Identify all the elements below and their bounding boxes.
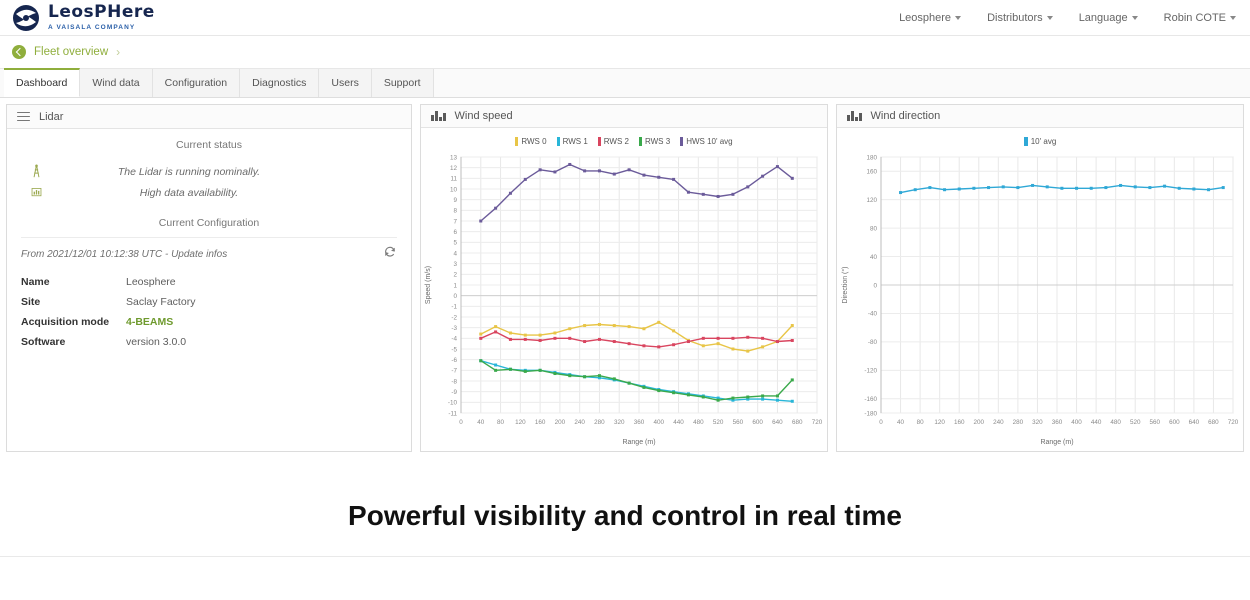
svg-text:680: 680 <box>792 419 803 426</box>
svg-text:160: 160 <box>535 419 546 426</box>
current-configuration-heading: Current Configuration <box>21 217 397 229</box>
svg-text:440: 440 <box>673 419 684 426</box>
svg-text:1: 1 <box>453 282 457 289</box>
config-value: 4-BEAMS <box>126 316 173 328</box>
svg-text:-8: -8 <box>451 378 457 385</box>
svg-text:2: 2 <box>453 272 457 279</box>
wind-speed-chart[interactable]: 0408012016020024028032036040044048052056… <box>421 151 827 451</box>
svg-text:200: 200 <box>974 419 985 426</box>
svg-text:600: 600 <box>1169 419 1180 426</box>
svg-text:-9: -9 <box>451 389 457 396</box>
brand-tagline: A VAISALA COMPANY <box>48 23 155 32</box>
topnav-label: Language <box>1079 12 1128 24</box>
legend-swatch <box>557 137 560 146</box>
status-list: The Lidar is running nominally. High dat… <box>21 161 397 203</box>
legend-item-hws-avg[interactable]: HWS 10' avg <box>680 137 732 146</box>
breadcrumb: Fleet overview › <box>0 36 1250 69</box>
legend-item-10-avg[interactable]: 10' avg <box>1024 137 1057 146</box>
brand-name: LeosPHere <box>48 4 155 21</box>
svg-text:-4: -4 <box>451 336 457 343</box>
svg-text:360: 360 <box>634 419 645 426</box>
svg-text:Speed (m/s): Speed (m/s) <box>425 266 432 304</box>
legend-swatch <box>1024 137 1028 146</box>
hamburger-icon[interactable] <box>17 112 30 122</box>
legend-swatch <box>515 137 518 146</box>
svg-text:5: 5 <box>453 240 457 247</box>
svg-text:80: 80 <box>917 419 925 426</box>
config-key: Acquisition mode <box>21 316 126 328</box>
tab-diagnostics[interactable]: Diagnostics <box>240 69 319 97</box>
svg-text:120: 120 <box>866 197 877 204</box>
chevron-down-icon <box>1230 16 1236 20</box>
svg-text:120: 120 <box>934 419 945 426</box>
svg-text:-40: -40 <box>868 311 878 318</box>
bar-chart-icon <box>847 110 862 121</box>
svg-text:720: 720 <box>1228 419 1239 426</box>
legend-label: HWS 10' avg <box>686 137 732 146</box>
svg-text:560: 560 <box>733 419 744 426</box>
svg-text:240: 240 <box>574 419 585 426</box>
topnav-item-user[interactable]: Robin COTE <box>1164 12 1236 24</box>
svg-text:640: 640 <box>1189 419 1200 426</box>
svg-text:-11: -11 <box>448 410 457 417</box>
svg-text:280: 280 <box>594 419 605 426</box>
svg-text:280: 280 <box>1013 419 1024 426</box>
config-table: Name Leosphere Site Saclay Factory Acqui… <box>21 272 397 352</box>
current-status-heading: Current status <box>21 139 397 151</box>
leosphere-logo-icon <box>12 4 40 32</box>
svg-text:0: 0 <box>459 419 463 426</box>
lidar-panel-header: Lidar <box>7 105 411 129</box>
status-text: The Lidar is running nominally. <box>51 166 397 178</box>
svg-text:-5: -5 <box>451 346 457 353</box>
svg-text:200: 200 <box>555 419 566 426</box>
config-date-text[interactable]: From 2021/12/01 10:12:38 UTC - Update in… <box>21 249 227 260</box>
back-circle-icon[interactable] <box>12 45 26 59</box>
tab-label: Configuration <box>165 77 227 89</box>
tab-label: Support <box>384 77 421 89</box>
brand-logo[interactable]: LeosPHere A VAISALA COMPANY <box>12 4 155 32</box>
legend-item-rws2[interactable]: RWS 2 <box>598 137 629 146</box>
svg-text:320: 320 <box>1032 419 1043 426</box>
config-value: Leosphere <box>126 276 176 288</box>
legend-item-rws3[interactable]: RWS 3 <box>639 137 670 146</box>
wind-direction-panel-title: Wind direction <box>871 110 941 122</box>
svg-text:-6: -6 <box>451 357 457 364</box>
svg-text:-160: -160 <box>864 396 877 403</box>
page-caption: Powerful visibility and control in real … <box>0 500 1250 532</box>
lidar-panel: Lidar Current status The Lidar is runnin… <box>6 104 412 452</box>
tab-dashboard[interactable]: Dashboard <box>4 68 80 97</box>
svg-text:0: 0 <box>453 293 457 300</box>
svg-text:9: 9 <box>453 197 457 204</box>
legend-label: 10' avg <box>1031 137 1057 146</box>
status-text: High data availability. <box>51 187 397 199</box>
legend-item-rws0[interactable]: RWS 0 <box>515 137 546 146</box>
tab-label: Dashboard <box>16 77 67 89</box>
svg-text:80: 80 <box>870 225 878 232</box>
config-row: Acquisition mode 4-BEAMS <box>21 312 397 332</box>
svg-text:160: 160 <box>866 169 877 176</box>
svg-text:-3: -3 <box>451 325 457 332</box>
tab-wind-data[interactable]: Wind data <box>80 69 152 97</box>
svg-text:440: 440 <box>1091 419 1102 426</box>
topnav-item-distributors[interactable]: Distributors <box>987 12 1053 24</box>
lidar-status-icon <box>21 164 51 179</box>
legend-label: RWS 0 <box>521 137 546 146</box>
legend-swatch <box>598 137 601 146</box>
svg-text:-2: -2 <box>451 314 457 321</box>
tab-bar: Dashboard Wind data Configuration Diagno… <box>0 69 1250 98</box>
svg-text:240: 240 <box>993 419 1004 426</box>
svg-text:120: 120 <box>515 419 526 426</box>
svg-text:6: 6 <box>453 229 457 236</box>
svg-text:4: 4 <box>453 250 457 257</box>
config-key: Software <box>21 336 126 348</box>
config-date-row: From 2021/12/01 10:12:38 UTC - Update in… <box>21 237 397 264</box>
svg-text:0: 0 <box>873 282 877 289</box>
svg-text:-7: -7 <box>451 368 457 375</box>
svg-text:520: 520 <box>1130 419 1141 426</box>
svg-text:320: 320 <box>614 419 625 426</box>
svg-text:40: 40 <box>870 254 878 261</box>
svg-text:10: 10 <box>450 186 458 193</box>
svg-text:520: 520 <box>713 419 724 426</box>
svg-text:7: 7 <box>453 218 457 225</box>
status-item: The Lidar is running nominally. <box>21 161 397 182</box>
topnav-item-leosphere[interactable]: Leosphere <box>899 12 961 24</box>
legend-swatch <box>639 137 642 146</box>
topnav-label: Robin COTE <box>1164 12 1226 24</box>
topnav-label: Distributors <box>987 12 1043 24</box>
wind-speed-panel: Wind speed RWS 0 RWS 1 RWS 2 RWS 3 HWS 1… <box>420 104 828 452</box>
svg-text:12: 12 <box>450 165 458 172</box>
svg-text:680: 680 <box>1208 419 1219 426</box>
wind-speed-panel-title: Wind speed <box>455 110 513 122</box>
svg-text:13: 13 <box>450 154 458 161</box>
svg-text:560: 560 <box>1150 419 1161 426</box>
svg-text:Range (m): Range (m) <box>1040 439 1073 446</box>
lidar-panel-title: Lidar <box>39 111 63 123</box>
svg-text:80: 80 <box>497 419 505 426</box>
wind-direction-panel: Wind direction 10' avg 04080120160200240… <box>836 104 1244 452</box>
tab-configuration[interactable]: Configuration <box>153 69 240 97</box>
chevron-down-icon <box>955 16 961 20</box>
top-bar: LeosPHere A VAISALA COMPANY Leosphere Di… <box>0 0 1250 36</box>
tab-label: Wind data <box>92 77 139 89</box>
config-key: Site <box>21 296 126 308</box>
svg-text:-120: -120 <box>864 368 877 375</box>
status-item: High data availability. <box>21 182 397 203</box>
wind-direction-panel-header: Wind direction <box>837 105 1243 128</box>
svg-text:Range (m): Range (m) <box>622 439 655 446</box>
svg-text:180: 180 <box>866 154 877 161</box>
legend-label: RWS 3 <box>645 137 670 146</box>
breadcrumb-item-fleet-overview[interactable]: Fleet overview <box>34 46 108 58</box>
bottom-divider <box>0 556 1250 557</box>
lidar-panel-body: Current status The Lidar is running nomi… <box>7 129 411 451</box>
chevron-down-icon <box>1132 16 1138 20</box>
svg-text:8: 8 <box>453 208 457 215</box>
svg-text:-1: -1 <box>451 304 457 311</box>
legend-item-rws1[interactable]: RWS 1 <box>557 137 588 146</box>
svg-text:11: 11 <box>450 176 457 183</box>
svg-text:600: 600 <box>752 419 763 426</box>
config-row: Software version 3.0.0 <box>21 332 397 352</box>
top-navigation: Leosphere Distributors Language Robin CO… <box>899 12 1236 24</box>
svg-text:Direction (°): Direction (°) <box>841 266 849 303</box>
wind-direction-legend: 10' avg <box>837 132 1243 151</box>
svg-text:0: 0 <box>879 419 883 426</box>
legend-swatch <box>680 137 683 146</box>
svg-text:160: 160 <box>954 419 965 426</box>
dashboard-page: LeosPHere A VAISALA COMPANY Leosphere Di… <box>0 0 1250 600</box>
topnav-item-language[interactable]: Language <box>1079 12 1138 24</box>
svg-text:480: 480 <box>1110 419 1121 426</box>
svg-text:40: 40 <box>897 419 905 426</box>
svg-text:400: 400 <box>654 419 665 426</box>
tab-label: Diagnostics <box>252 77 306 89</box>
tab-label: Users <box>331 77 358 89</box>
svg-text:360: 360 <box>1052 419 1063 426</box>
svg-text:-180: -180 <box>864 410 877 417</box>
tab-support[interactable]: Support <box>372 69 434 97</box>
config-value: Saclay Factory <box>126 296 195 308</box>
config-row: Site Saclay Factory <box>21 292 397 312</box>
svg-text:3: 3 <box>453 261 457 268</box>
wind-speed-panel-header: Wind speed <box>421 105 827 128</box>
refresh-icon[interactable] <box>383 245 397 264</box>
tab-users[interactable]: Users <box>319 69 371 97</box>
data-availability-icon <box>21 186 51 199</box>
svg-text:480: 480 <box>693 419 704 426</box>
svg-text:-80: -80 <box>868 339 878 346</box>
config-row: Name Leosphere <box>21 272 397 292</box>
legend-label: RWS 1 <box>563 137 588 146</box>
svg-text:-10: -10 <box>448 400 458 407</box>
svg-text:400: 400 <box>1071 419 1082 426</box>
breadcrumb-separator: › <box>116 45 120 59</box>
svg-text:640: 640 <box>772 419 783 426</box>
config-key: Name <box>21 276 126 288</box>
wind-direction-chart[interactable]: 0408012016020024028032036040044048052056… <box>837 151 1243 451</box>
wind-speed-legend: RWS 0 RWS 1 RWS 2 RWS 3 HWS 10' avg <box>421 132 827 151</box>
chevron-down-icon <box>1047 16 1053 20</box>
panels-row: Lidar Current status The Lidar is runnin… <box>0 98 1250 453</box>
svg-text:720: 720 <box>812 419 823 426</box>
config-value: version 3.0.0 <box>126 336 186 348</box>
legend-label: RWS 2 <box>604 137 629 146</box>
bar-chart-icon <box>431 110 446 121</box>
topnav-label: Leosphere <box>899 12 951 24</box>
svg-text:40: 40 <box>477 419 485 426</box>
